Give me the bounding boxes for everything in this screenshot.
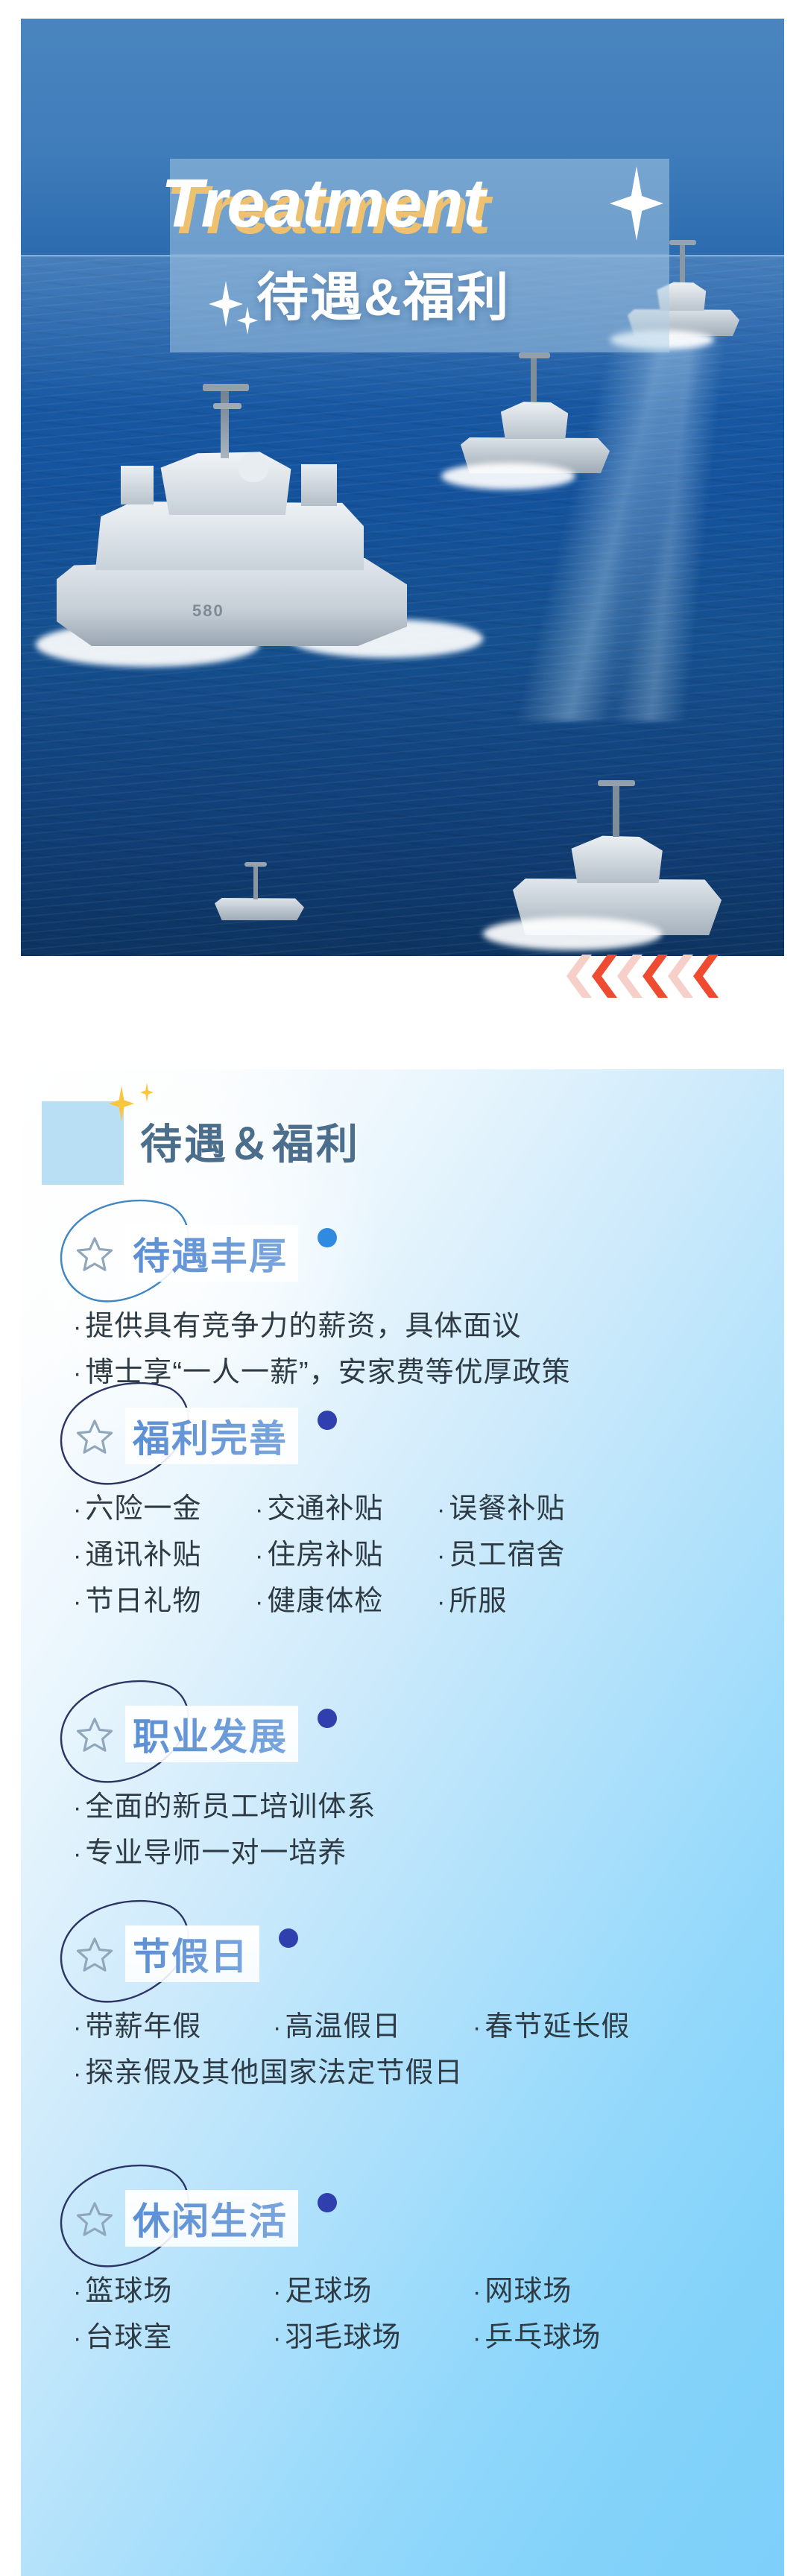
section-header: 福利完善 (21, 1397, 784, 1478)
bullet-dot-icon: · (73, 2324, 82, 2352)
section-accent-dot (279, 1928, 298, 1948)
bullet-dot-icon: · (255, 1496, 264, 1524)
chevron-left-icon (643, 955, 668, 998)
bullet-row: ·全面的新员工培训体系 (21, 1783, 784, 1829)
warship-small (207, 823, 319, 935)
bullet-text: 博士享“一人一薪”，安家费等优厚政策 (85, 1357, 570, 1388)
bullet-item: ·所服 (437, 1577, 619, 1618)
bullet-text: 春节延长假 (484, 2011, 630, 2042)
section-bullets: ·六险一金·交通补贴·误餐补贴·通讯补贴·住房补贴·员工宿舍·节日礼物·健康体检… (21, 1485, 784, 1624)
section-career-development: 职业发展·全面的新员工培训体系·专业导师一对一培养 (21, 1695, 784, 1776)
bullet-row: ·通讯补贴·住房补贴·员工宿舍 (21, 1531, 784, 1577)
bullet-dot-icon: · (73, 2013, 82, 2042)
section-header: 待遇丰厚 (21, 1215, 784, 1295)
bullet-item: ·羽毛球场 (273, 2314, 473, 2355)
panel-heading: 待遇＆福利 (140, 1111, 360, 1171)
section-title-plate: 福利完善 (125, 1408, 298, 1464)
bullet-item: ·节日礼物 (73, 1577, 255, 1618)
section-title: 休闲生活 (133, 2192, 288, 2245)
bullet-text: 高温假日 (285, 2011, 401, 2042)
bullet-dot-icon: · (73, 1588, 82, 1616)
bullet-item: ·博士享“一人一薪”，安家费等优厚政策 (73, 1349, 571, 1390)
bullet-text: 健康体检 (267, 1586, 383, 1617)
bullet-text: 六险一金 (85, 1493, 201, 1525)
bullet-dot-icon: · (437, 1588, 446, 1616)
bullet-text: 乒乓球场 (484, 2322, 601, 2353)
star-outline-icon (75, 2199, 115, 2239)
bullet-dot-icon: · (255, 1542, 264, 1570)
section-bullets: ·全面的新员工培训体系·专业导师一对一培养 (21, 1783, 784, 1876)
poster-page: 580 Treatment 待遇&福利 待遇＆福利 待遇丰厚·提供具有竞争力的薪… (0, 0, 805, 2576)
section-header: 职业发展 (21, 1695, 784, 1776)
bullet-dot-icon: · (73, 1794, 82, 1822)
bullet-text: 探亲假及其他国家法定节假日 (85, 2057, 463, 2089)
section-bullets: ·篮球场·足球场·网球场·台球室·羽毛球场·乒乓球场 (21, 2268, 784, 2360)
bullet-dot-icon: · (73, 1313, 82, 1341)
star-outline-icon (75, 1715, 115, 1755)
bullet-row: ·带薪年假·高温假日·春节延长假 (21, 2003, 784, 2049)
bullet-item: ·通讯补贴 (73, 1531, 255, 1572)
bullet-dot-icon: · (273, 2324, 282, 2352)
bullet-dot-icon: · (73, 1542, 82, 1570)
bullet-dot-icon: · (437, 1542, 446, 1570)
bullet-item: ·足球场 (273, 2268, 473, 2308)
bullet-text: 羽毛球场 (285, 2322, 401, 2353)
bullet-item: ·高温假日 (273, 2003, 473, 2044)
bullet-dot-icon: · (73, 2060, 82, 2088)
section-leisure-life: 休闲生活·篮球场·足球场·网球场·台球室·羽毛球场·乒乓球场 (21, 2180, 784, 2260)
bullet-text: 节日礼物 (85, 1586, 201, 1617)
bullet-dot-icon: · (73, 1359, 82, 1387)
bullet-item: ·篮球场 (73, 2268, 273, 2308)
hero-title-en: Treatment (161, 165, 484, 243)
bullet-item: ·网球场 (473, 2268, 672, 2308)
bullet-dot-icon: · (473, 2324, 482, 2352)
bullet-row: ·专业导师一对一培养 (21, 1829, 784, 1876)
section-title-plate: 休闲生活 (125, 2190, 298, 2247)
section-title-plate: 职业发展 (125, 1706, 298, 1762)
bullet-text: 住房补贴 (267, 1539, 383, 1571)
star-outline-icon (75, 1417, 115, 1457)
section-header: 休闲生活 (21, 2180, 784, 2260)
bullet-text: 台球室 (85, 2322, 172, 2353)
bullet-dot-icon: · (73, 1496, 82, 1524)
bullet-dot-icon: · (73, 1840, 82, 1868)
benefits-panel: 待遇＆福利 待遇丰厚·提供具有竞争力的薪资，具体面议·博士享“一人一薪”，安家费… (21, 1069, 784, 2576)
chevron-left-icon (668, 955, 693, 998)
bullet-text: 足球场 (285, 2276, 372, 2307)
section-benefits-complete: 福利完善·六险一金·交通补贴·误餐补贴·通讯补贴·住房补贴·员工宿舍·节日礼物·… (21, 1397, 784, 1478)
section-accent-dot (318, 2193, 337, 2212)
bullet-dot-icon: · (273, 2278, 282, 2306)
bullet-text: 全面的新员工培训体系 (85, 1791, 376, 1823)
bullet-item: ·春节延长假 (473, 2003, 672, 2044)
chevron-left-icon (592, 955, 617, 998)
bullet-text: 员工宿舍 (449, 1539, 565, 1571)
bullet-item: ·六险一金 (73, 1485, 255, 1526)
bullet-item: ·台球室 (73, 2314, 273, 2355)
bullet-item: ·全面的新员工培训体系 (73, 1783, 376, 1824)
bullet-text: 误餐补贴 (449, 1493, 565, 1525)
bullet-row: ·六险一金·交通补贴·误餐补贴 (21, 1485, 784, 1531)
section-bullets: ·提供具有竞争力的薪资，具体面议·博士享“一人一薪”，安家费等优厚政策 (21, 1303, 784, 1395)
section-treatment-generous: 待遇丰厚·提供具有竞争力的薪资，具体面议·博士享“一人一薪”，安家费等优厚政策 (21, 1215, 784, 1295)
bullet-item: ·交通补贴 (255, 1485, 437, 1526)
bullet-item: ·乒乓球场 (473, 2314, 672, 2355)
section-title: 待遇丰厚 (133, 1227, 288, 1280)
warship-rear (498, 749, 744, 956)
bullet-dot-icon: · (273, 2013, 282, 2042)
bullet-text: 专业导师一对一培养 (85, 1838, 347, 1869)
bullet-dot-icon: · (473, 2013, 482, 2042)
bullet-item: ·提供具有竞争力的薪资，具体面议 (73, 1303, 521, 1344)
bullet-dot-icon: · (255, 1588, 264, 1616)
bullet-item: ·健康体检 (255, 1577, 437, 1618)
bullet-dot-icon: · (437, 1496, 446, 1524)
bullet-text: 带薪年假 (85, 2011, 201, 2042)
bullet-row: ·提供具有竞争力的薪资，具体面议 (21, 1303, 784, 1349)
bullet-row: ·探亲假及其他国家法定节假日 (21, 2049, 784, 2095)
bullet-item: ·专业导师一对一培养 (73, 1829, 347, 1870)
bullet-item: ·探亲假及其他国家法定节假日 (73, 2049, 463, 2090)
bullet-text: 网球场 (484, 2276, 572, 2307)
chevron-decoration (566, 955, 719, 998)
bullet-text: 通讯补贴 (85, 1539, 201, 1571)
section-title: 职业发展 (133, 1707, 288, 1761)
section-accent-dot (318, 1411, 337, 1430)
sparkle-icon-heading-small (140, 1083, 154, 1102)
bullet-text: 篮球场 (85, 2276, 172, 2307)
panel-heading-chip (42, 1101, 124, 1185)
section-title: 福利完善 (133, 1409, 288, 1463)
bullet-row: ·博士享“一人一薪”，安家费等优厚政策 (21, 1349, 784, 1395)
bullet-dot-icon: · (73, 2278, 82, 2306)
hero-title-cn: 待遇&福利 (256, 256, 511, 331)
section-accent-dot (318, 1228, 337, 1247)
warship-main: 580 (43, 376, 438, 674)
chevron-left-icon (566, 955, 592, 998)
bullet-text: 提供具有竞争力的薪资，具体面议 (85, 1311, 521, 1342)
section-title-plate: 节假日 (125, 1925, 259, 1982)
hero-image: 580 Treatment 待遇&福利 (21, 19, 784, 956)
section-header: 节假日 (21, 1915, 784, 1996)
section-title-plate: 待遇丰厚 (125, 1225, 298, 1282)
chevron-left-icon (617, 955, 643, 998)
section-bullets: ·带薪年假·高温假日·春节延长假·探亲假及其他国家法定节假日 (21, 2003, 784, 2095)
bullet-row: ·台球室·羽毛球场·乒乓球场 (21, 2314, 784, 2360)
section-title: 节假日 (133, 1927, 249, 1981)
bullet-dot-icon: · (473, 2278, 482, 2306)
star-outline-icon (75, 1234, 115, 1274)
bullet-row: ·篮球场·足球场·网球场 (21, 2268, 784, 2314)
bullet-row: ·节日礼物·健康体检·所服 (21, 1577, 784, 1624)
chevron-left-icon (693, 955, 719, 998)
bullet-item: ·带薪年假 (73, 2003, 273, 2044)
bullet-item: ·误餐补贴 (437, 1485, 619, 1526)
bullet-text: 所服 (449, 1586, 507, 1617)
star-outline-icon (75, 1934, 115, 1975)
section-holidays: 节假日·带薪年假·高温假日·春节延长假·探亲假及其他国家法定节假日 (21, 1915, 784, 1996)
section-accent-dot (318, 1709, 337, 1728)
bullet-item: ·员工宿舍 (437, 1531, 619, 1572)
bullet-item: ·住房补贴 (255, 1531, 437, 1572)
ship-hull-number: 580 (192, 601, 224, 621)
bullet-text: 交通补贴 (267, 1493, 383, 1525)
